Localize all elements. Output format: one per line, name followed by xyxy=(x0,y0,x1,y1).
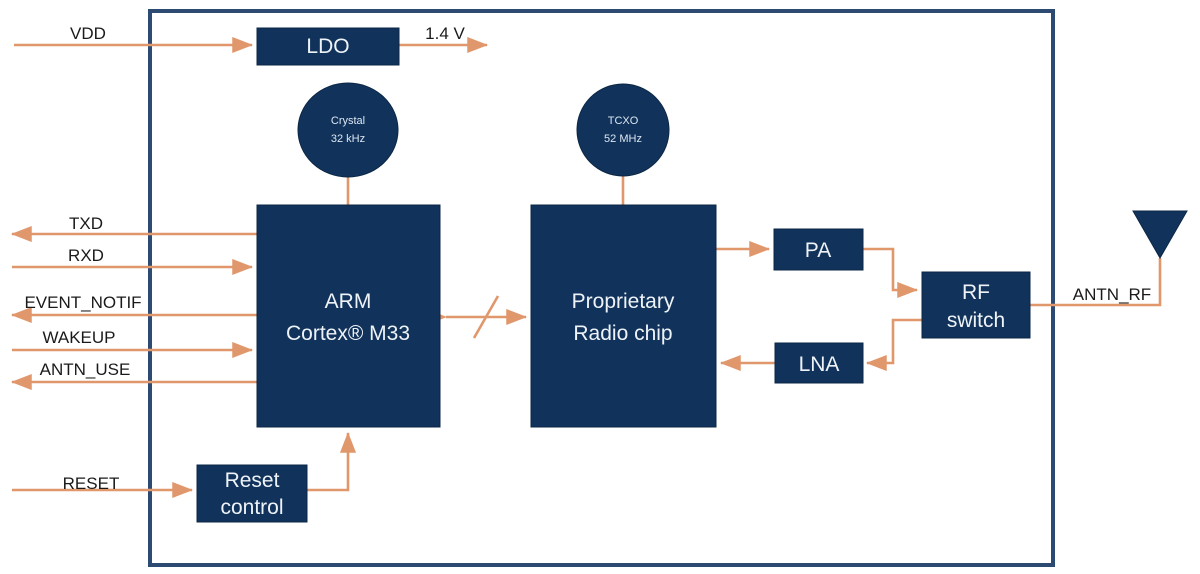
label-tcxo-freq: 52 MHz xyxy=(604,133,642,145)
label-reset: RESET xyxy=(63,474,120,493)
label-event-notif: EVENT_NOTIF xyxy=(24,293,141,312)
block-diagram-canvas: LDO Crystal 32 kHz TCXO 52 MHz ARM Corte… xyxy=(0,0,1200,574)
wire-reset-to-mcu xyxy=(307,433,348,490)
block-tcxo[interactable] xyxy=(577,84,669,176)
label-crystal-freq: 32 kHz xyxy=(331,133,365,145)
label-mcu-core: Cortex® M33 xyxy=(286,322,410,345)
label-pa: PA xyxy=(805,239,831,262)
wire-rfswitch-lna xyxy=(867,320,922,363)
label-rf-switch-line1: RF xyxy=(962,281,990,304)
label-vdd: VDD xyxy=(70,24,106,43)
block-crystal[interactable] xyxy=(298,83,398,177)
label-mcu-vendor: ARM xyxy=(325,290,372,313)
label-tcxo-name: TCXO xyxy=(608,115,639,127)
antenna-icon xyxy=(1133,211,1187,258)
diagram-svg: LDO Crystal 32 kHz TCXO 52 MHz ARM Corte… xyxy=(0,0,1200,574)
label-reset-line1: Reset xyxy=(225,469,280,492)
block-mcu[interactable] xyxy=(257,205,440,427)
label-rxd: RXD xyxy=(68,246,104,265)
label-ldo-out: 1.4 V xyxy=(425,24,465,43)
label-reset-line2: control xyxy=(220,496,283,519)
label-lna: LNA xyxy=(799,353,840,376)
label-ldo: LDO xyxy=(306,35,349,58)
label-antn-rf: ANTN_RF xyxy=(1073,285,1151,304)
label-antn-use: ANTN_USE xyxy=(40,360,131,379)
wire-pa-rfswitch xyxy=(863,249,917,290)
label-radio-line2: Radio chip xyxy=(573,322,672,345)
label-txd: TXD xyxy=(69,214,103,233)
label-crystal-name: Crystal xyxy=(331,115,365,127)
label-radio-line1: Proprietary xyxy=(572,290,675,313)
label-wakeup: WAKEUP xyxy=(42,328,115,347)
block-radio[interactable] xyxy=(531,205,716,427)
label-rf-switch-line2: switch xyxy=(947,309,1005,332)
